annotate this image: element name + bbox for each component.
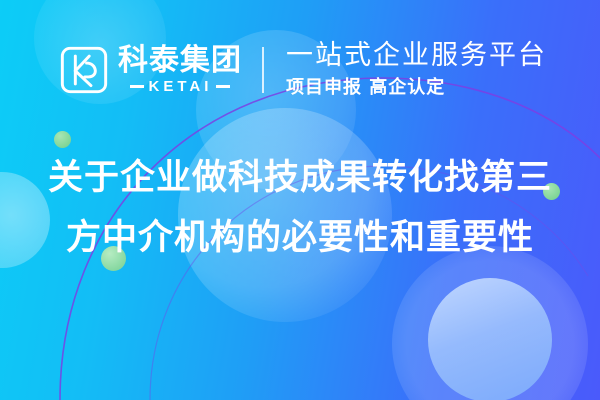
- headline-line-2: 方中介机构的必要性和重要性: [0, 208, 600, 268]
- vertical-divider: [262, 47, 264, 93]
- ketai-kp-monogram-icon: [58, 44, 110, 96]
- company-logo[interactable]: 科泰集团 KETAI: [58, 44, 242, 96]
- promo-banner: 科泰集团 KETAI 一站式企业服务平台 项目申报 高企认定 关于企业做科技成果…: [0, 0, 600, 400]
- banner-header: 科泰集团 KETAI 一站式企业服务平台 项目申报 高企认定: [58, 36, 547, 104]
- logo-dash-left-icon: [130, 85, 144, 88]
- headline-line-1: 关于企业做科技成果转化找第三: [0, 148, 600, 208]
- slogan-block: 一站式企业服务平台 项目申报 高企认定: [286, 40, 547, 99]
- slogan-secondary: 项目申报 高企认定: [286, 76, 547, 99]
- logo-company-en: KETAI: [149, 78, 213, 95]
- logo-company-en-row: KETAI: [118, 78, 242, 95]
- slogan-primary: 一站式企业服务平台: [286, 40, 547, 71]
- logo-wordmark: 科泰集团 KETAI: [118, 45, 242, 96]
- logo-company-cn: 科泰集团: [118, 45, 242, 77]
- background-blob-lower-right: [428, 278, 552, 400]
- background-blob-lower-right-ring: [392, 246, 588, 400]
- green-accent-dot-1: [54, 131, 71, 148]
- headline-block: 关于企业做科技成果转化找第三 方中介机构的必要性和重要性: [0, 148, 600, 268]
- logo-dash-right-icon: [216, 85, 230, 88]
